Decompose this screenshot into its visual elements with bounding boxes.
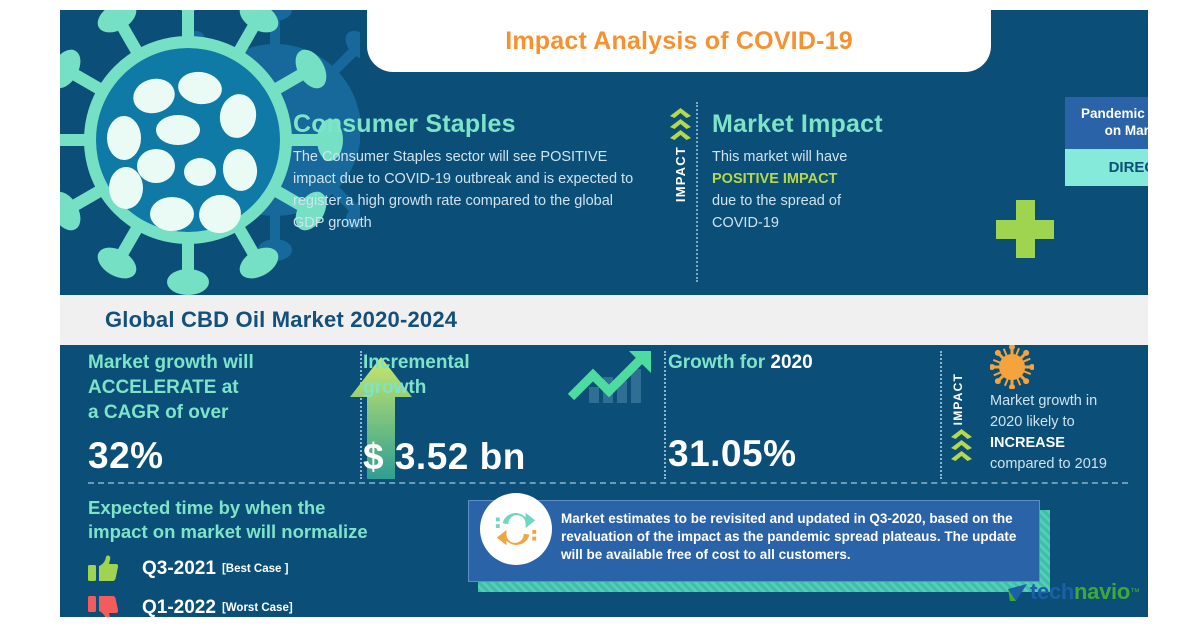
chevron-up-icon [951,451,972,461]
chevron-up-icon [951,440,972,450]
metric-cagr-label-2: ACCELERATE at [88,377,239,398]
normalize-heading-1: Expected time by when the [88,497,325,518]
impact-chevrons [670,108,691,140]
impact-panel-line1: Market growth in [990,393,1097,409]
note-text: Market estimates to be revisited and upd… [468,500,1040,582]
metric-growth-label-mint: Growth for [668,352,770,373]
metrics-row: Market growth will ACCELERATE at a CAGR … [60,345,1148,485]
hero-divider [696,102,698,282]
title-plate: Impact Analysis of COVID-19 [367,10,991,72]
thumbs-up-icon [88,555,118,583]
consumer-staples-body: The Consumer Staples sector will see POS… [293,146,643,234]
impact-panel-line3: compared to 2019 [990,456,1107,472]
bottom-section: Expected time by when the impact on mark… [60,492,1148,617]
pandemic-impact-title: Pandemic Impact on Market [1065,97,1148,149]
chevron-up-icon [951,429,972,439]
market-impact-highlight: POSITIVE IMPACT [712,171,837,187]
consumer-staples-block: Consumer Staples The Consumer Staples se… [293,110,643,234]
note-callout: Market estimates to be revisited and upd… [468,500,1050,592]
coronavirus-icon [990,345,1034,389]
normalize-worst-case: [Worst Case] [222,602,293,614]
metric-incremental-label-2: growth [363,377,426,398]
market-impact-line2: due to the spread of [712,193,841,209]
report-title: Global CBD Oil Market 2020-2024 [105,307,457,333]
normalize-heading-2: impact on market will normalize [88,521,368,542]
impact-label: IMPACT [673,146,688,202]
logo-trademark: ™ [1130,587,1140,598]
chevron-up-icon [670,108,691,118]
impact-panel-text: Market growth in 2020 likely to INCREASE… [990,391,1148,475]
consumer-staples-heading: Consumer Staples [293,110,643,139]
thumbs-down-icon [88,594,118,617]
plus-icon [996,200,1054,258]
market-impact-heading: Market Impact [712,110,967,139]
impact-panel-chevrons [951,429,972,461]
metric-incremental-growth: Incremental growth $ 3.52 bn [363,345,668,485]
metric-cagr-label-3: a CAGR of over [88,402,228,423]
metric-incremental-label-1: Incremental [363,352,470,373]
trending-up-icon [565,351,657,407]
market-impact-line3: COVID-19 [712,215,779,231]
refresh-sync-icon [480,493,552,565]
metric-incremental-value: $ 3.52 bn [363,436,668,478]
impact-panel-line2: 2020 likely to [990,414,1075,430]
metric-cagr: Market growth will ACCELERATE at a CAGR … [88,345,363,485]
report-title-band: Global CBD Oil Market 2020-2024 [60,295,1148,345]
impact-panel-label-wrap: IMPACT [951,367,965,425]
normalize-worst-quarter: Q1-2022 [142,597,216,617]
normalize-best-case: [Best Case ] [222,563,288,575]
metric-growth-value: 31.05% [668,433,943,475]
page-title: Impact Analysis of COVID-19 [505,27,853,56]
impact-panel-label: IMPACT [951,373,965,425]
metric-growth-2020: Growth for 2020 31.05% [668,345,943,485]
normalize-worst-row: Q1-2022 [Worst Case] [88,594,428,617]
hero-section: Impact Analysis of COVID-19 Consumer Sta… [60,10,1148,295]
chevron-up-icon [670,119,691,129]
metric-growth-label-year: 2020 [770,352,812,373]
impact-panel-emphasis: INCREASE [990,435,1065,451]
impact-panel: IMPACT Market growth in 2020 likely to I… [943,345,1148,485]
metric-cagr-label-1: Market growth will [88,352,254,373]
logo-word-tech: tech [1030,579,1074,605]
hero-impact-indicator: IMPACT [660,108,700,278]
normalize-best-row: Q3-2021 [Best Case ] [88,555,428,583]
logo-word-navio: navio [1074,579,1130,605]
market-impact-line1: This market will have [712,149,847,165]
normalize-best-quarter: Q3-2021 [142,558,216,580]
chevron-up-icon [670,130,691,140]
normalize-block: Expected time by when the impact on mark… [88,496,428,617]
pandemic-impact-box: Pandemic Impact on Market DIRECT [1065,97,1148,186]
market-impact-block: Market Impact This market will have POSI… [712,110,967,234]
pandemic-impact-value: DIRECT [1065,149,1148,186]
technavio-logo: technavio™ [1008,575,1140,609]
metric-cagr-value: 32% [88,435,363,477]
technavio-arrow-icon [1008,584,1027,601]
infographic-root: Impact Analysis of COVID-19 Consumer Sta… [0,0,1200,627]
metrics-bottom-dashed-rule [88,482,1128,484]
main-panel: Impact Analysis of COVID-19 Consumer Sta… [60,10,1148,617]
